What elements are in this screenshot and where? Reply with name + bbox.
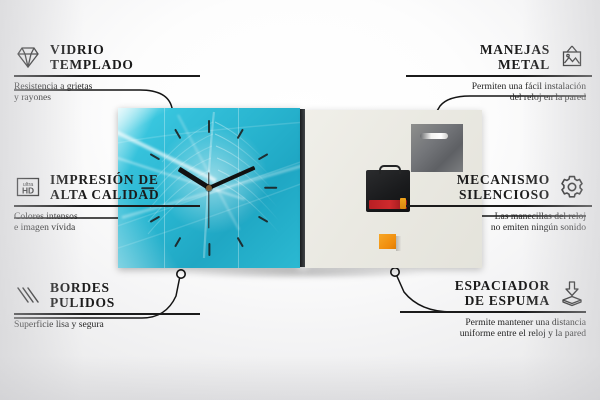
feature-mecanismo-silencioso: MECANISMO SILENCIOSO Las manecillas del … <box>406 172 586 234</box>
gear-icon <box>558 173 586 201</box>
svg-text:HD: HD <box>22 186 34 196</box>
feature-description: Superficie lisa y segura <box>14 319 164 331</box>
foam-spacer-arrow-icon <box>558 279 586 307</box>
infographic-canvas: VIDRIO TEMPLADO Resistencia a grietas y … <box>0 0 600 400</box>
feature-manejas-metal: MANEJAS METAL Permiten una fácil instala… <box>406 42 586 104</box>
feature-description: Resistencia a grietas y rayones <box>14 81 164 104</box>
hand-cap <box>206 185 212 191</box>
foam-spacer <box>379 234 396 249</box>
divider <box>406 75 592 77</box>
feature-title: ESPACIADOR DE ESPUMA <box>455 278 550 308</box>
feature-espaciador-espuma: ESPACIADOR DE ESPUMA Permite mantener un… <box>400 278 586 340</box>
feature-description: Permiten una fácil instalación del reloj… <box>406 81 586 104</box>
polished-edges-icon <box>14 281 42 309</box>
picture-frame-hanger-icon <box>558 43 586 71</box>
feature-description: Permite mantener una distancia uniforme … <box>400 317 586 340</box>
battery <box>369 200 407 209</box>
ultra-hd-icon: ultra HD <box>14 173 42 201</box>
divider <box>14 75 200 77</box>
divider <box>14 313 200 315</box>
metal-hanger-plate <box>411 124 463 172</box>
feature-bordes-pulidos: BORDES PULIDOS Superficie lisa y segura <box>14 280 164 330</box>
feature-vidrio-templado: VIDRIO TEMPLADO Resistencia a grietas y … <box>14 42 164 104</box>
divider <box>406 205 592 207</box>
mechanism-loop <box>379 165 401 174</box>
feature-title: MECANISMO SILENCIOSO <box>457 172 550 202</box>
feature-title: MANEJAS METAL <box>480 42 550 72</box>
divider <box>400 311 586 313</box>
feature-title: VIDRIO TEMPLADO <box>50 42 134 72</box>
second-hand <box>208 172 209 228</box>
hanger-slot <box>420 133 448 139</box>
diamond-icon <box>14 43 42 71</box>
divider <box>14 205 200 207</box>
feature-description: Las manecillas del reloj no emiten ningú… <box>406 211 586 234</box>
clock-mechanism <box>366 170 410 212</box>
feature-title: IMPRESIÓN DE ALTA CALIDAD <box>50 172 159 202</box>
minute-hand <box>208 166 255 190</box>
feature-title: BORDES PULIDOS <box>50 280 115 310</box>
feature-impresion-alta-calidad: ultra HD IMPRESIÓN DE ALTA CALIDAD Color… <box>14 172 174 234</box>
feature-description: Colores intensos e imagen vívida <box>14 211 174 234</box>
